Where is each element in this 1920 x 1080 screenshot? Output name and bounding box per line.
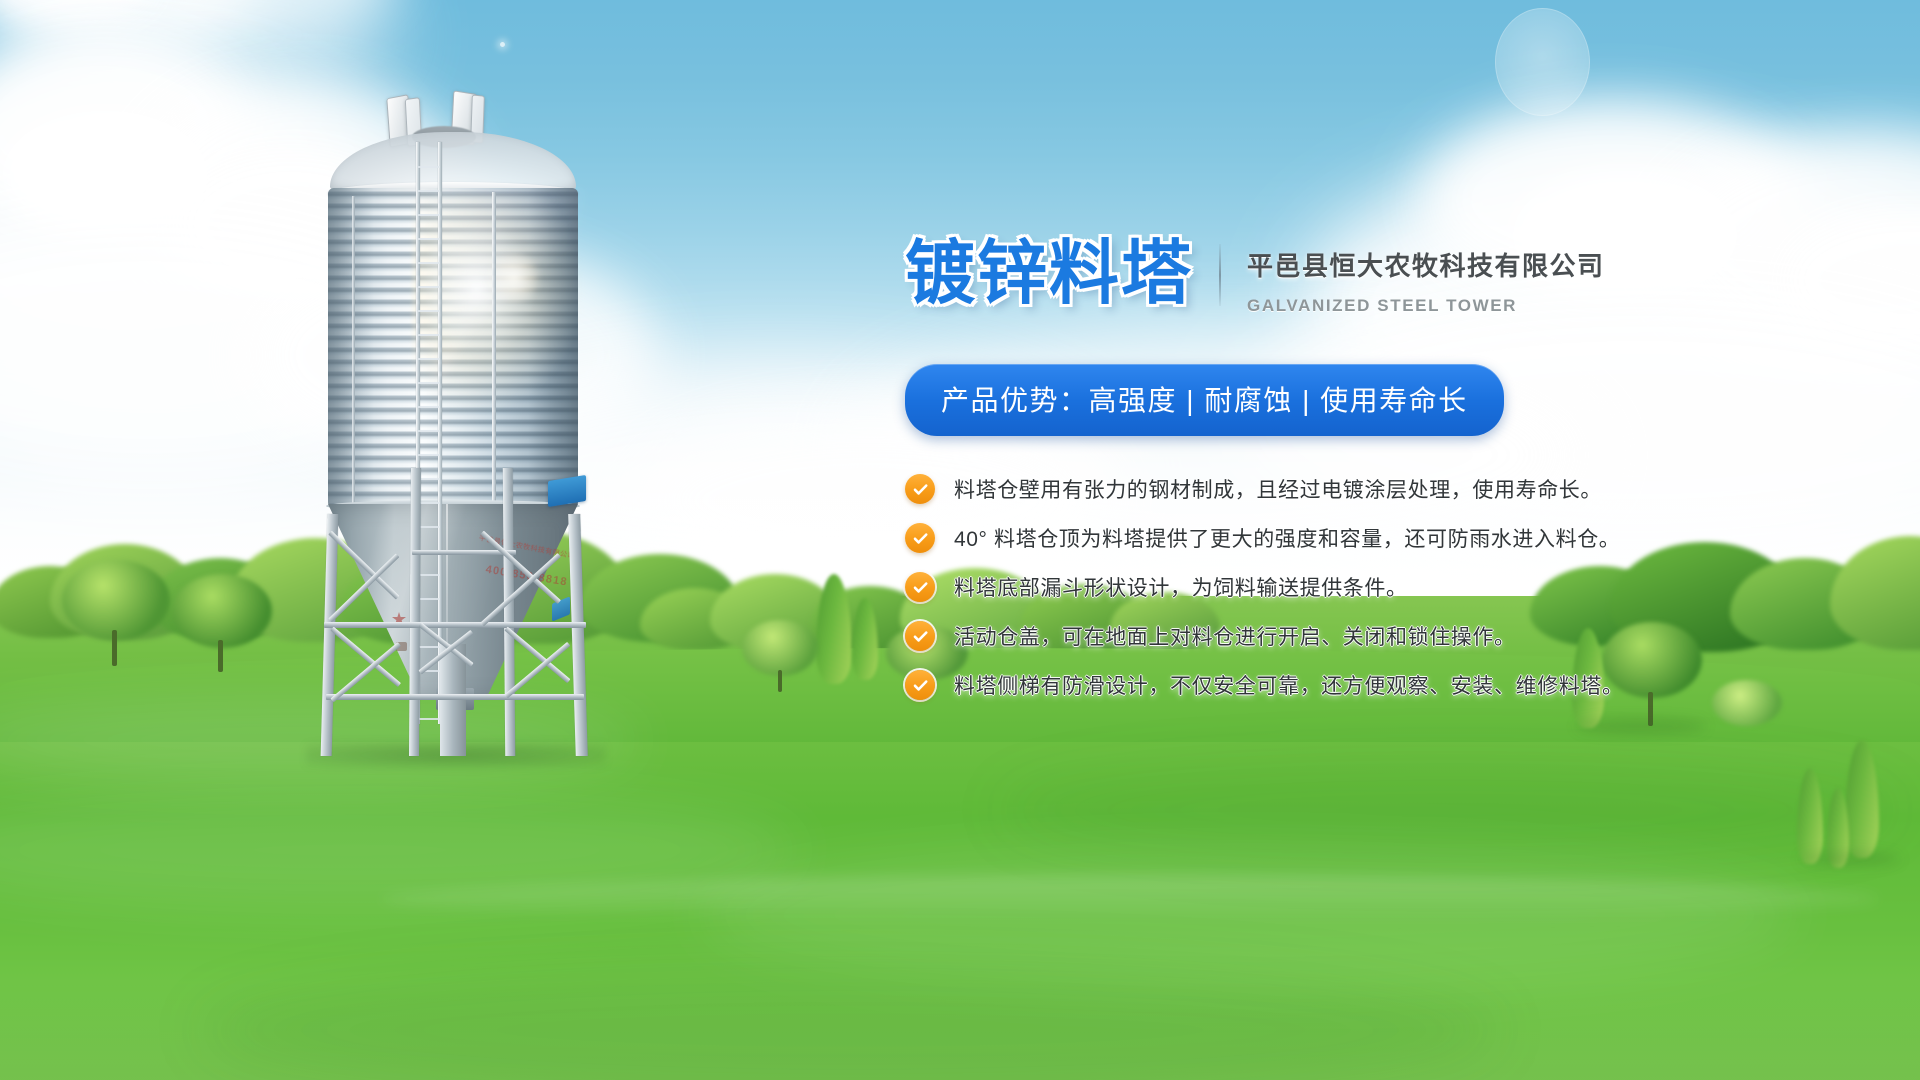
marketing-copy-panel: 镀锌料塔 平邑县恒大农牧科技有限公司 GALVANIZED STEEL TOWE… [905, 238, 1865, 719]
lawn-path [380, 876, 1880, 922]
silo-leg [568, 514, 588, 756]
check-circle-icon [905, 621, 935, 651]
silo-horizontal-brace [326, 694, 584, 700]
tree-midground [56, 560, 176, 670]
tree-midground [740, 620, 820, 694]
feature-list: 料塔仓壁用有张力的钢材制成，且经过电镀涂层处理，使用寿命长。 40° 料塔仓顶为… [905, 474, 1865, 700]
tree-cypress [852, 598, 878, 680]
list-item: 40° 料塔仓顶为料塔提供了更大的强度和容量，还可防雨水进入料仓。 [905, 523, 1865, 553]
banner-canvas: 平邑县恒大农牧科技有限公司 400-850-8818 [0, 0, 1920, 1080]
feature-text: 料塔底部漏斗形状设计，为饲料输送提供条件。 [954, 572, 1408, 602]
tree-cypress [1797, 768, 1823, 864]
galvanized-feed-silo: 平邑县恒大农牧科技有限公司 400-850-8818 [316, 96, 616, 756]
feature-text: 活动仓盖，可在地面上对料仓进行开启、关闭和锁住操作。 [954, 621, 1516, 651]
check-circle-icon [905, 474, 935, 504]
check-circle-icon [905, 572, 935, 602]
silo-diagonal-brace [330, 627, 401, 687]
product-advantage-badge: 产品优势：高强度 | 耐腐蚀 | 使用寿命长 [905, 364, 1504, 436]
company-name: 平邑县恒大农牧科技有限公司 [1247, 246, 1605, 283]
tree-midground [168, 574, 278, 674]
silo-leg [503, 468, 516, 756]
tree-cypress [1845, 740, 1879, 858]
list-item: 料塔底部漏斗形状设计，为饲料输送提供条件。 [905, 572, 1865, 602]
page-title: 镀锌料塔 [905, 238, 1219, 308]
product-subtitle-english: GALVANIZED STEEL TOWER [1247, 296, 1605, 316]
feature-text: 料塔侧梯有防滑设计，不仅安全可靠，还方便观察、安装、维修料塔。 [954, 670, 1624, 700]
list-item: 活动仓盖，可在地面上对料仓进行开启、关闭和锁住操作。 [905, 621, 1865, 651]
tree-shadow [1576, 718, 1706, 734]
title-side-block: 平邑县恒大农牧科技有限公司 GALVANIZED STEEL TOWER [1221, 238, 1605, 316]
silo-support-frame [316, 426, 616, 756]
silo-leg [409, 468, 421, 756]
check-circle-icon [905, 523, 935, 553]
tree-cypress [816, 574, 852, 684]
feature-text: 料塔仓壁用有张力的钢材制成，且经过电镀涂层处理，使用寿命长。 [954, 474, 1602, 504]
title-row: 镀锌料塔 平邑县恒大农牧科技有限公司 GALVANIZED STEEL TOWE… [905, 238, 1865, 316]
list-item: 料塔仓壁用有张力的钢材制成，且经过电镀涂层处理，使用寿命长。 [905, 474, 1865, 504]
ground-vignette [0, 980, 1920, 1080]
lawn-stripe [1000, 760, 1900, 860]
check-circle-icon [905, 670, 935, 700]
tree-shadow [1800, 852, 1900, 866]
feature-text: 40° 料塔仓顶为料塔提供了更大的强度和容量，还可防雨水进入料仓。 [954, 523, 1620, 553]
silo-horizontal-brace [324, 622, 586, 628]
list-item: 料塔侧梯有防滑设计，不仅安全可靠，还方便观察、安装、维修料塔。 [905, 670, 1865, 700]
